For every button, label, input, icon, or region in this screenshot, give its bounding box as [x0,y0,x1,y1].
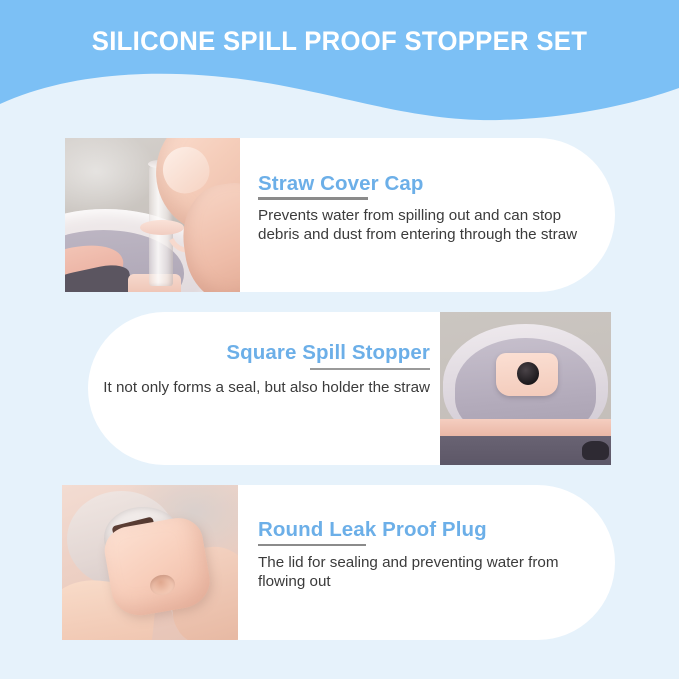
feature-description: The lid for sealing and preventing water… [258,553,603,592]
banner-wave-shape [0,0,679,130]
card-text-block: Square Spill Stopper It not only forms a… [88,312,440,465]
header-banner: SILICONE SPILL PROOF STOPPER SET [0,0,679,130]
feature-description: It not only forms a seal, but also holde… [100,378,430,397]
feature-description: Prevents water from spilling out and can… [258,206,606,245]
heading-underline-rule [258,544,366,546]
feature-heading: Square Spill Stopper [226,341,430,365]
heading-underline-rule [310,368,430,370]
card-text-block: Round Leak Proof Plug The lid for sealin… [238,485,615,640]
feature-heading: Round Leak Proof Plug [258,518,487,542]
card-text-block: Straw Cover Cap Prevents water from spil… [240,138,615,292]
square-spill-stopper-photo [440,312,611,465]
feature-card-straw-cover-cap: Straw Cover Cap Prevents water from spil… [65,138,615,292]
feature-card-round-leak-proof-plug: Round Leak Proof Plug The lid for sealin… [62,485,615,640]
feature-card-square-spill-stopper: Square Spill Stopper It not only forms a… [88,312,611,465]
feature-heading: Straw Cover Cap [258,172,424,196]
page-title: SILICONE SPILL PROOF STOPPER SET [10,26,669,57]
heading-underline-rule [258,197,368,200]
straw-cover-cap-photo [65,138,240,292]
round-leak-proof-plug-photo [62,485,238,640]
